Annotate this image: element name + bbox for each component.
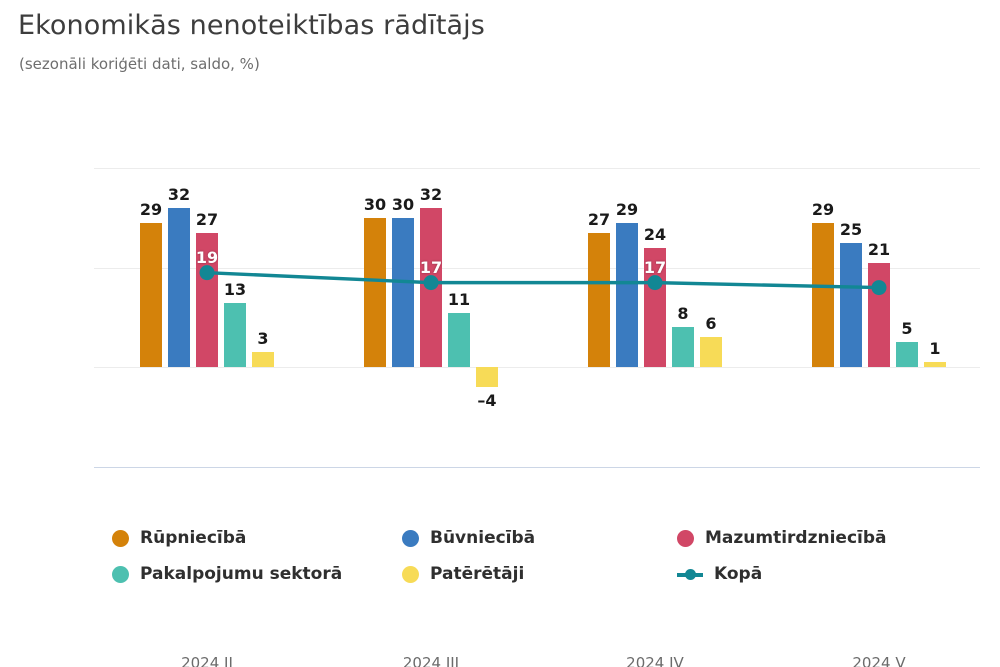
line-value-label: 17 [635, 258, 675, 277]
line-value-label: 19 [187, 248, 227, 267]
line-dot-icon [677, 566, 703, 583]
legend-label: Mazumtirdzniecībā [705, 528, 887, 548]
legend-item-b-vniec-b-[interactable]: Būvniecībā [402, 528, 535, 548]
x-tick-label: 2024 IV [585, 654, 725, 667]
line-point[interactable] [424, 275, 439, 290]
legend-item-mazumtirdzniec-b-[interactable]: Mazumtirdzniecībā [677, 528, 887, 548]
kopa-line-series [94, 168, 980, 467]
legend-label: Patērētāji [430, 564, 524, 584]
legend-label: Rūpniecībā [140, 528, 246, 548]
chart-page: Ekonomikās nenoteiktības rādītājs (sezon… [0, 0, 1000, 667]
legend-item-pat-r-t-ji[interactable]: Patērētāji [402, 564, 524, 584]
gridline--20 [94, 467, 980, 468]
legend-swatch-icon [402, 566, 419, 583]
legend-swatch-icon [112, 530, 129, 547]
legend-swatch-icon [402, 530, 419, 547]
line-point[interactable] [648, 275, 663, 290]
x-tick-label: 2024 II [137, 654, 277, 667]
line-value-label: 17 [411, 258, 451, 277]
line-point[interactable] [872, 280, 887, 295]
line-path [207, 273, 879, 288]
line-point[interactable] [200, 265, 215, 280]
x-tick-label: 2024 V [809, 654, 949, 667]
page-title: Ekonomikās nenoteiktības rādītājs [18, 10, 485, 41]
legend-label: Pakalpojumu sektorā [140, 564, 342, 584]
legend-swatch-icon [677, 530, 694, 547]
legend-swatch-icon [112, 566, 129, 583]
legend-item-pakalpojumu-sektor-[interactable]: Pakalpojumu sektorā [112, 564, 342, 584]
plot-area: 40200−20 2024 II2024 III2024 IV2024 V 29… [94, 168, 980, 467]
legend-item-r-pniec-b-[interactable]: Rūpniecībā [112, 528, 246, 548]
x-tick-label: 2024 III [361, 654, 501, 667]
legend-label: Būvniecībā [430, 528, 535, 548]
legend-item-kop-[interactable]: Kopā [677, 564, 762, 584]
legend-label: Kopā [714, 564, 762, 584]
chart-subtitle: (sezonāli koriģēti dati, saldo, %) [19, 55, 260, 73]
